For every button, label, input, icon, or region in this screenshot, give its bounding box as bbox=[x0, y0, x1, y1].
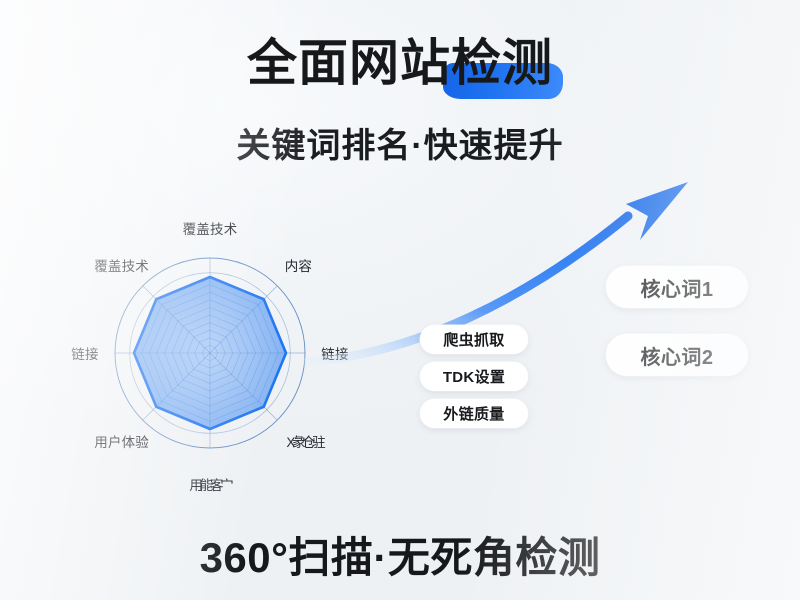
keyword-card-1-label: 核心词1 bbox=[640, 273, 713, 302]
tag-backlink[interactable]: 外链质量 bbox=[420, 399, 528, 428]
poster-canvas: 全面网站检测 关键词排名·快速提升 覆盖技术内容链接X彖'仓驻用能客宀用户体验链… bbox=[0, 0, 800, 600]
tag-tdk-label: TDK设置 bbox=[443, 366, 505, 387]
page-footer-title: 360°扫描·无死角检测 bbox=[0, 524, 800, 585]
keyword-card-2[interactable]: 核心词2 bbox=[606, 334, 748, 376]
radar-axis-label-7: 覆盖技术 bbox=[94, 255, 149, 275]
page-title: 全面网站检测 bbox=[247, 36, 553, 90]
tag-crawl-label: 爬虫抓取 bbox=[443, 329, 504, 350]
keyword-card-2-label: 核心词2 bbox=[640, 341, 713, 370]
title-part-highlight: 网站 bbox=[349, 36, 451, 90]
page-subtitle: 关键词排名·快速提升 bbox=[0, 118, 800, 167]
radar-axis-label-2: 链接 bbox=[321, 343, 348, 363]
radar-axis-label-1: 内容 bbox=[285, 255, 312, 275]
title-block: 全面网站检测 bbox=[0, 36, 800, 90]
radar-axis-label-6: 链接 bbox=[71, 343, 98, 363]
radar-inner-rings bbox=[134, 277, 286, 429]
tag-backlink-label: 外链质量 bbox=[443, 403, 504, 424]
title-part-post: 检测 bbox=[451, 36, 553, 90]
title-part-pre: 全面 bbox=[247, 36, 349, 90]
keyword-card-1[interactable]: 核心词1 bbox=[606, 266, 748, 308]
tag-tdk[interactable]: TDK设置 bbox=[420, 362, 528, 391]
tag-crawl[interactable]: 爬虫抓取 bbox=[420, 325, 528, 354]
radar-axis-label-3: X彖'仓驻 bbox=[286, 431, 322, 451]
radar-chart: 覆盖技术内容链接X彖'仓驻用能客宀用户体验链接覆盖技术 bbox=[28, 190, 408, 510]
radar-axis-label-0: 覆盖技术 bbox=[183, 218, 238, 238]
radar-axis-label-5: 用户体验 bbox=[94, 431, 149, 451]
radar-axis-label-4: 用能客宀 bbox=[189, 474, 230, 494]
